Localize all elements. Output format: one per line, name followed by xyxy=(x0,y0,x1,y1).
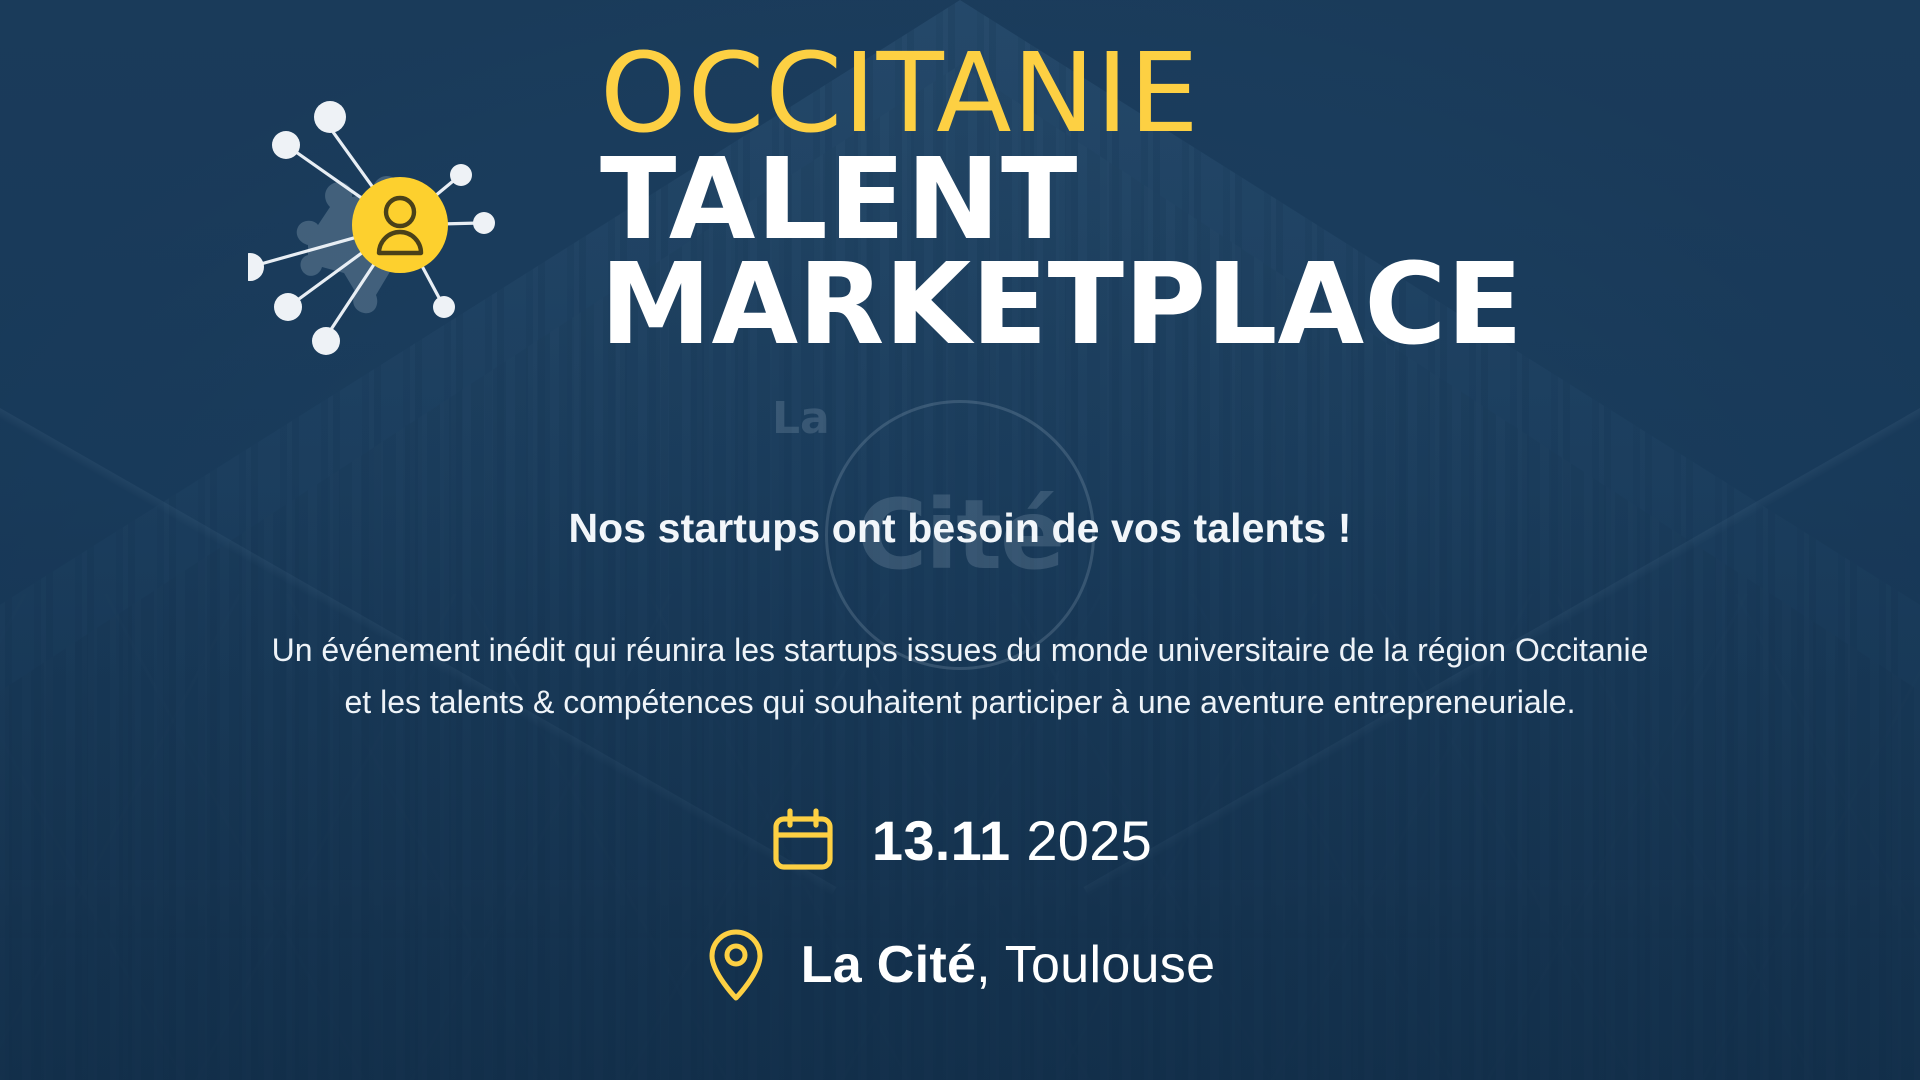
map-pin-icon xyxy=(705,927,767,1003)
event-date-daymonth: 13.11 xyxy=(872,809,1011,872)
logo-node xyxy=(450,164,472,186)
poster-tagline: Nos startups ont besoin de vos talents ! xyxy=(0,505,1920,552)
event-date-row: 13.11 2025 xyxy=(0,805,1920,875)
description-line-1: Un événement inédit qui réunira les star… xyxy=(0,625,1920,677)
description-line-2: et les talents & compétences qui souhait… xyxy=(0,677,1920,729)
event-poster: La Cité xyxy=(0,0,1920,1080)
title-line-talent: TALENT xyxy=(600,148,1660,253)
logo-node xyxy=(248,253,264,281)
event-meta: 13.11 2025 La Cité, Toulouse xyxy=(0,805,1920,1003)
logo-node xyxy=(312,327,340,355)
event-venue: La Cité xyxy=(801,936,976,994)
logo-center-badge xyxy=(352,177,448,273)
event-date-year: 2025 xyxy=(1026,809,1152,872)
logo-node xyxy=(274,293,302,321)
event-location-separator: , xyxy=(976,936,1005,994)
title-line-marketplace: MARKETPLACE xyxy=(600,253,1660,358)
poster-content: OCCITANIE TALENT MARKETPLACE Nos startup… xyxy=(0,0,1920,1080)
event-location-row: La Cité, Toulouse xyxy=(0,927,1920,1003)
poster-title: OCCITANIE TALENT MARKETPLACE xyxy=(600,40,1660,358)
occitanie-talent-marketplace-logo xyxy=(248,95,508,365)
event-date-text: 13.11 2025 xyxy=(872,808,1152,873)
event-location-text: La Cité, Toulouse xyxy=(801,935,1216,995)
calendar-icon xyxy=(768,805,838,875)
logo-node xyxy=(314,101,346,133)
logo-node xyxy=(433,296,455,318)
title-line-occitanie: OCCITANIE xyxy=(600,40,1660,148)
event-city: Toulouse xyxy=(1005,936,1216,994)
poster-description: Un événement inédit qui réunira les star… xyxy=(0,625,1920,729)
logo-node xyxy=(272,131,300,159)
logo-node xyxy=(473,212,495,234)
